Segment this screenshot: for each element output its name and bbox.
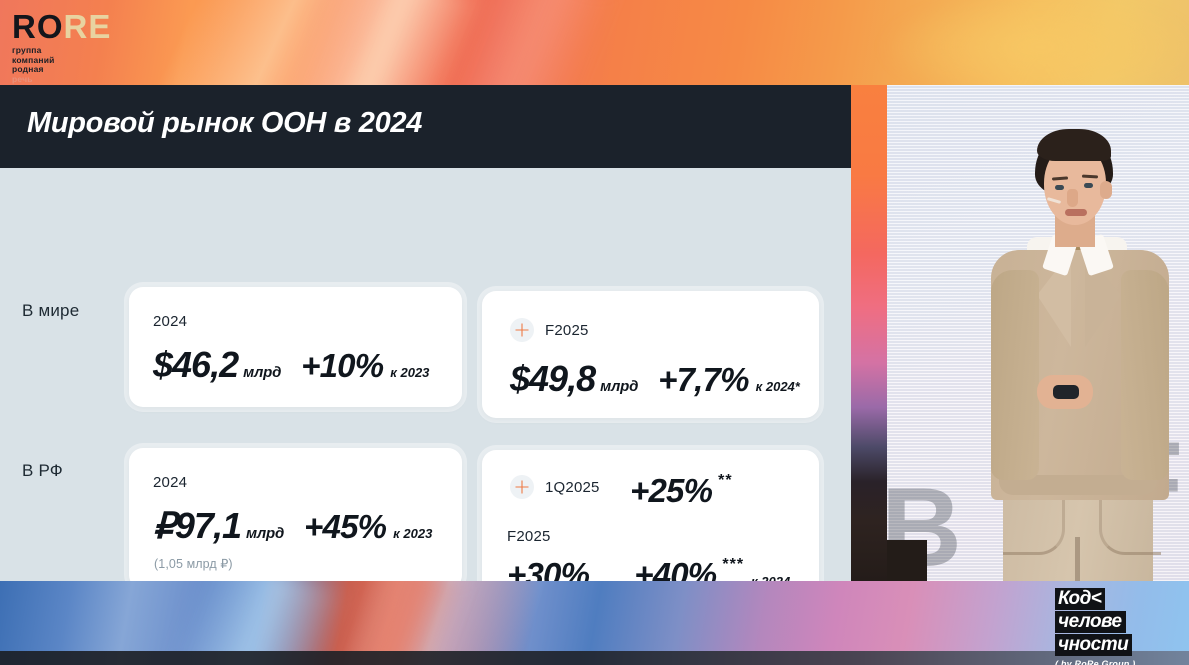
speaker-leg-separation [1075, 537, 1080, 581]
card-world-f2025-label: F2025 [545, 322, 589, 339]
bottom-gradient-band [0, 581, 1189, 665]
card-russia-2024-metrics: ₽97,1 млрд +45% к 2023 [153, 505, 432, 547]
card-russia-1q2025-change: +25% [630, 472, 712, 510]
speaker-eye-left [1055, 185, 1064, 190]
speaker-video-panel: F В [887, 85, 1189, 581]
rore-wordmark-part1: RO [12, 8, 64, 45]
row-label-world: В мире [22, 301, 79, 321]
card-world-2024-year: 2024 [153, 313, 187, 330]
top-band-gold-glow [880, 0, 1189, 85]
rore-tagline: группа компаний родная речь [12, 46, 111, 84]
presentation-slide: Мировой рынок ООН в 2024 В мире В РФ 202… [0, 85, 851, 581]
rore-wordmark-part2: RE [64, 8, 112, 45]
top-band-highlight-streak [284, 0, 484, 85]
rore-tagline-line-4: речь [12, 75, 111, 85]
channel-logo: Код< челове чности ( by RoRe Group ) [1055, 588, 1135, 665]
rore-wordmark: RORE [12, 12, 111, 42]
channel-logo-line-3: чности [1055, 634, 1132, 656]
card-russia-2024: 2024 ₽97,1 млрд +45% к 2023 (1,05 млрд ₽… [129, 448, 462, 589]
card-world-2024-unit: млрд [243, 364, 281, 381]
top-gradient-band [0, 0, 1189, 85]
speaker-sleeve-left [991, 270, 1039, 480]
card-russia-1q2025-metrics: +25% ** [630, 472, 733, 510]
channel-logo-line-2: челове [1055, 611, 1126, 633]
speaker-nose [1067, 189, 1078, 207]
slide-title: Мировой рынок ООН в 2024 [27, 107, 422, 140]
speaker-eye-right [1084, 183, 1093, 188]
bottom-band-dark-edge [0, 651, 1189, 665]
card-world-f2025-chip: F2025 [510, 318, 589, 342]
card-russia-2024-year: 2024 [153, 474, 187, 491]
card-world-2024-change: +10% [301, 347, 383, 385]
speaker-mouth [1065, 209, 1087, 216]
card-russia-f2025-label: F2025 [507, 528, 551, 545]
speaker-sleeve-right [1121, 270, 1169, 480]
card-russia-2024-note: (1,05 млрд ₽) [154, 556, 233, 571]
card-world-f2025-unit: млрд [600, 378, 638, 395]
card-russia-f2025-footnote: *** [722, 556, 744, 574]
plus-icon [510, 318, 534, 342]
channel-logo-byline: ( by RoRe Group ) [1055, 659, 1135, 665]
vertical-gradient-divider [851, 85, 887, 581]
card-world-f2025-comparison: к 2024* [756, 379, 800, 394]
card-russia-2024-value: ₽97,1 [153, 505, 241, 547]
row-label-russia: В РФ [22, 461, 63, 481]
presentation-clicker [1053, 385, 1079, 399]
card-russia-1q2025-label: 1Q2025 [545, 479, 600, 496]
card-russia-2024-comparison: к 2023 [393, 526, 432, 541]
card-world-f2025-value: $49,8 [510, 358, 595, 400]
speaker-figure [887, 85, 1189, 581]
card-world-2024: 2024 $46,2 млрд +10% к 2023 [129, 287, 462, 407]
card-russia-1q2025-chip: 1Q2025 [510, 475, 600, 499]
card-world-2024-metrics: $46,2 млрд +10% к 2023 [153, 344, 429, 386]
plus-icon [510, 475, 534, 499]
card-world-f2025-metrics: $49,8 млрд +7,7% к 2024* [510, 358, 800, 400]
speaker-hair-fringe [1037, 129, 1111, 161]
screenshot-root: RORE группа компаний родная речь Мировой… [0, 0, 1189, 665]
card-russia-1q2025-footnote: ** [718, 472, 732, 490]
card-russia-2024-unit: млрд [246, 525, 284, 542]
card-russia-2024-change: +45% [304, 508, 386, 546]
card-world-f2025-change: +7,7% [658, 361, 749, 399]
rore-logo: RORE группа компаний родная речь [12, 12, 111, 84]
speaker-ear [1100, 181, 1112, 199]
card-world-2024-value: $46,2 [153, 344, 238, 386]
channel-logo-line-1: Код< [1055, 588, 1105, 610]
card-world-forecast-2025: F2025 $49,8 млрд +7,7% к 2024* [482, 291, 819, 418]
card-world-2024-comparison: к 2023 [390, 365, 429, 380]
